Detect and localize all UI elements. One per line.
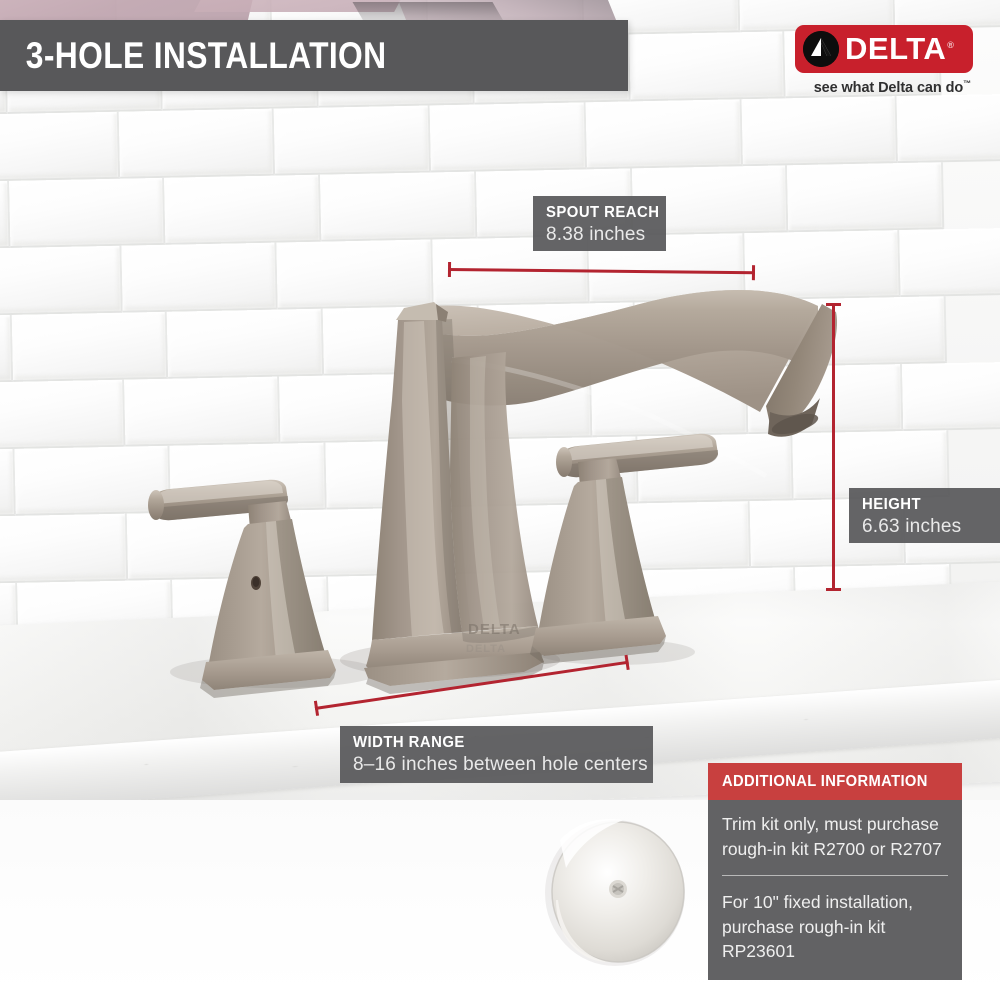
callout-height-value: 6.63 inches [862, 515, 989, 540]
additional-information-note: Trim kit only, must purchase rough-in ki… [722, 812, 948, 862]
callout-height: HEIGHT 6.63 inches [849, 488, 1000, 543]
callout-width-range-title: WIDTH RANGE [353, 733, 621, 752]
additional-information-note: For 10" fixed installation, purchase rou… [722, 890, 948, 965]
page-title: 3-HOLE INSTALLATION [0, 35, 386, 77]
callout-spout-reach-title: SPOUT REACH [546, 203, 646, 222]
callout-width-range: WIDTH RANGE 8–16 inches between hole cen… [340, 726, 653, 783]
additional-information-divider [722, 875, 948, 876]
additional-information-body: Trim kit only, must purchase rough-in ki… [708, 800, 962, 980]
svg-text:DELTA: DELTA [468, 621, 521, 638]
height-line [832, 303, 835, 591]
callout-spout-reach-value: 8.38 inches [546, 223, 654, 248]
registered-trademark-icon: ® [947, 40, 954, 50]
delta-tagline: see what Delta can do™ [795, 79, 975, 96]
height-line-cap-top [826, 303, 841, 306]
header-banner: 3-HOLE INSTALLATION [0, 20, 628, 91]
delta-wordmark: DELTA® [845, 31, 954, 67]
delta-logo-badge: DELTA® [795, 25, 973, 73]
delta-triangle-icon [803, 31, 839, 67]
drain-cover-cap [545, 819, 685, 966]
additional-information-heading: ADDITIONAL INFORMATION [708, 763, 962, 800]
callout-height-title: HEIGHT [862, 495, 980, 514]
product-spec-image: DELTA DELTA [0, 0, 1000, 1000]
spout-reach-line-cap-right [752, 265, 755, 280]
callout-spout-reach: SPOUT REACH 8.38 inches [533, 196, 666, 251]
svg-text:DELTA: DELTA [466, 643, 506, 655]
delta-logo: DELTA® see what Delta can do™ [795, 25, 975, 96]
callout-width-range-value: 8–16 inches between hole centers [353, 753, 641, 778]
spout-reach-line-cap-left [448, 262, 451, 277]
additional-information-panel: ADDITIONAL INFORMATION Trim kit only, mu… [708, 763, 962, 980]
trademark-icon: ™ [963, 79, 971, 88]
height-line-cap-bottom [826, 588, 841, 591]
